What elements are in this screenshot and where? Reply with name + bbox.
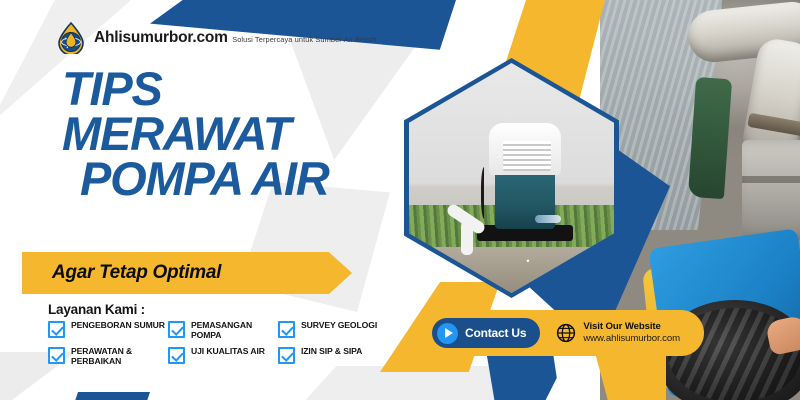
rubber-boot <box>688 77 732 199</box>
headline-line-3: POMPA AIR <box>62 156 392 201</box>
headline: TIPS MERAWAT POMPA AIR <box>62 66 392 201</box>
pump-valve <box>535 215 561 223</box>
service-label: PERAWATAN & PERBAIKAN <box>71 346 168 366</box>
service-item-perawatan-perbaikan: PERAWATAN & PERBAIKAN <box>48 346 168 366</box>
brand-tagline: Solusi Terpercaya untuk Sumber Air Bersi… <box>232 35 376 44</box>
pump-vent <box>503 141 551 171</box>
services-title: Layanan Kami : <box>48 302 145 317</box>
checkbox-icon <box>168 347 185 364</box>
checkbox-icon <box>168 321 185 338</box>
decor-navy-footer-strip <box>70 392 150 400</box>
website-heading: Visit Our Website <box>583 321 680 333</box>
pump-pipe-vertical <box>461 221 473 255</box>
checkbox-icon <box>48 321 65 338</box>
contact-us-button[interactable]: Contact Us <box>432 318 540 348</box>
website-url[interactable]: www.ahlisumurbor.com <box>583 333 680 345</box>
service-item-survey-geologi: SURVEY GEOLOGI <box>278 320 393 340</box>
service-label: PENGEBORAN SUMUR <box>71 320 165 330</box>
website-info[interactable]: Visit Our Website www.ahlisumurbor.com <box>556 321 680 344</box>
service-item-izin-sip-sipa: IZIN SIP & SIPA <box>278 346 393 366</box>
headline-line-1: TIPS <box>62 66 392 111</box>
service-label: PEMASANGAN POMPA <box>191 320 278 340</box>
pump-cable <box>481 167 489 219</box>
headline-line-2: MERAWAT <box>62 111 392 156</box>
service-label: SURVEY GEOLOGI <box>301 320 377 330</box>
brand-header: Ahlisumurbor.com Solusi Terpercaya untuk… <box>56 22 377 54</box>
contact-us-button-label: Contact Us <box>465 326 526 340</box>
promotional-banner: Ahlisumurbor.com Solusi Terpercaya untuk… <box>0 0 800 400</box>
checkbox-icon <box>278 347 295 364</box>
water-droplet-globe-logo-icon <box>56 22 86 54</box>
metal-bucket <box>742 140 800 240</box>
service-item-pemasangan-pompa: PEMASANGAN POMPA <box>168 320 278 340</box>
services-list: PENGEBORAN SUMUR PEMASANGAN POMPA SURVEY… <box>48 320 393 367</box>
checkbox-icon <box>48 347 65 364</box>
service-label: UJI KUALITAS AIR <box>191 346 265 356</box>
service-item-uji-kualitas-air: UJI KUALITAS AIR <box>168 346 278 366</box>
play-icon <box>437 323 458 344</box>
subheadline-text: Agar Tetap Optimal <box>52 262 221 284</box>
service-item-pengeboran-sumur: PENGEBORAN SUMUR <box>48 320 168 340</box>
subheadline-arrow-banner: Agar Tetap Optimal <box>22 252 352 294</box>
contact-bar: Contact Us Visit Our Website www.ahlisum… <box>414 310 704 356</box>
globe-icon <box>556 323 576 343</box>
brand-name: Ahlisumurbor.com <box>94 29 228 46</box>
service-label: IZIN SIP & SIPA <box>301 346 362 356</box>
checkbox-icon <box>278 321 295 338</box>
